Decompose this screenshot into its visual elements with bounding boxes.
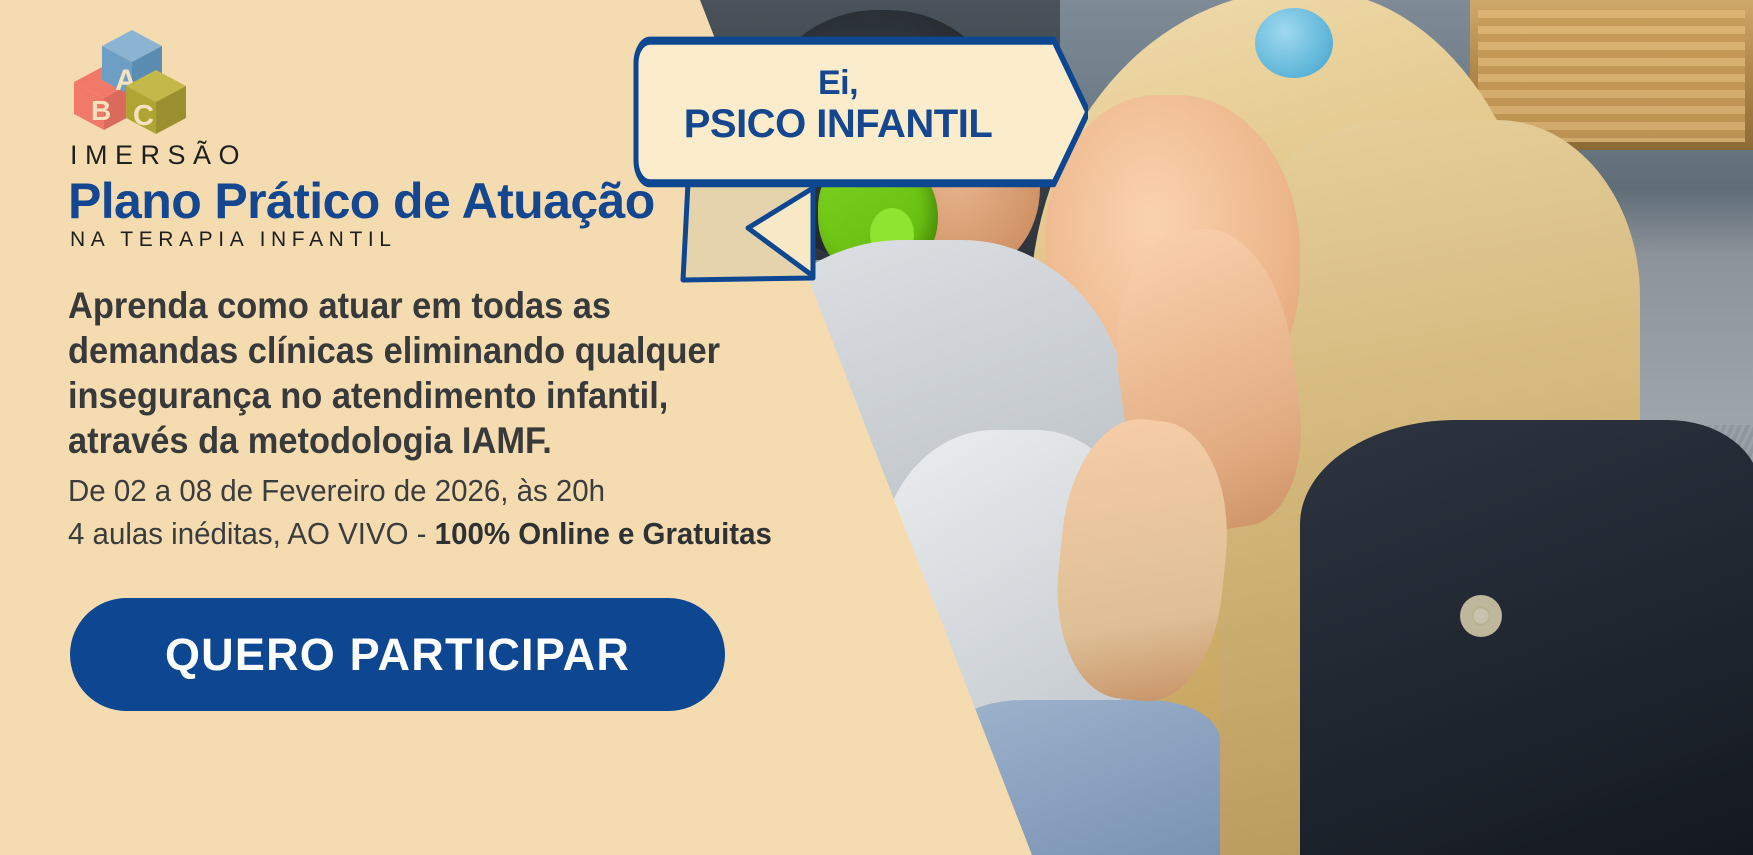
girl-shirt [1300, 420, 1753, 855]
event-format-line: 4 aulas inéditas, AO VIVO - 100% Online … [68, 513, 923, 556]
promo-banner: B A C IMERSÃO Plano Prático de [0, 0, 1753, 855]
event-date-line: De 02 a 08 de Fevereiro de 2026, às 20h [68, 470, 923, 513]
lede-paragraph: Aprenda como atuar em todas as demandas … [68, 283, 803, 464]
kicker-imersao: IMERSÃO [70, 140, 247, 171]
speech-bubble: Ei, PSICO INFANTIL [628, 18, 1088, 308]
lede-line-3: insegurança no atendimento infantil, [68, 373, 803, 418]
girl-hair-clip [1255, 8, 1333, 78]
page-title: Plano Prático de Atuação [68, 172, 655, 230]
lede-line-4: através da metodologia IAMF. [68, 418, 803, 463]
quero-participar-button[interactable]: QUERO PARTICIPAR [70, 598, 725, 711]
event-format-prefix: 4 aulas inéditas, AO VIVO - [68, 516, 435, 551]
svg-text:C: C [133, 100, 154, 132]
event-details: De 02 a 08 de Fevereiro de 2026, às 20h … [68, 470, 923, 556]
abc-blocks-logo: B A C [70, 28, 192, 138]
shirt-flower-print [1460, 595, 1502, 637]
svg-text:B: B [91, 95, 111, 126]
event-format-highlight: 100% Online e Gratuitas [435, 516, 772, 551]
lede-line-2: demandas clínicas eliminando qualquer [68, 328, 803, 373]
bubble-body [636, 41, 1088, 184]
subtitle-terapia-infantil: NA TERAPIA INFANTIL [70, 228, 397, 252]
